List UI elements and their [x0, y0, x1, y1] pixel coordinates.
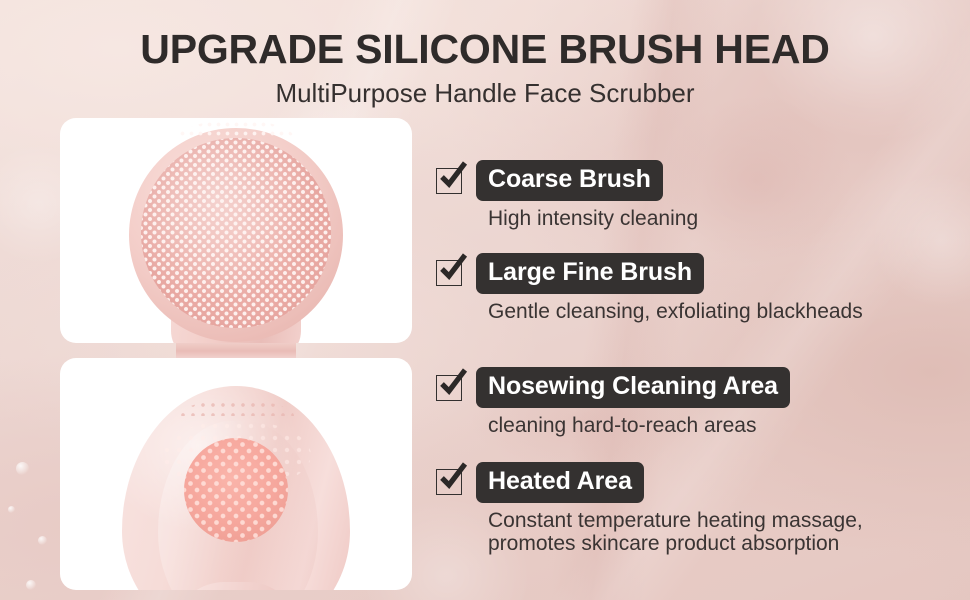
- product-photo-card-bristle-side: [60, 118, 412, 343]
- water-droplet-icon: [38, 536, 47, 545]
- water-droplet-icon: [26, 580, 36, 590]
- checkbox-checked-icon: [436, 469, 462, 495]
- feature-heading: Large Fine Brush: [436, 253, 956, 294]
- checkbox-checked-icon: [436, 260, 462, 286]
- heated-area-texture: [184, 438, 288, 542]
- checkbox-checked-icon: [436, 168, 462, 194]
- brush-handle-strip: [176, 343, 296, 359]
- feature-description: Gentle cleansing, exfoliating blackheads: [488, 300, 956, 324]
- feature-heading: Nosewing Cleaning Area: [436, 367, 956, 408]
- product-photo-card-back-side: [60, 358, 412, 590]
- brush-back-top-bristles: [178, 400, 294, 416]
- feature-label: Heated Area: [476, 462, 644, 503]
- page-title: UPGRADE SILICONE BRUSH HEAD: [0, 26, 970, 73]
- brush-rim-bristles: [178, 120, 294, 138]
- feature-item: Heated Area Constant temperature heating…: [436, 462, 956, 556]
- feature-item: Large Fine Brush Gentle cleansing, exfol…: [436, 253, 956, 324]
- feature-label: Coarse Brush: [476, 160, 663, 201]
- brush-back-body: [122, 386, 350, 590]
- feature-item: Nosewing Cleaning Area cleaning hard-to-…: [436, 367, 956, 438]
- brush-bristles-texture: [141, 138, 331, 328]
- brush-bristle-face: [141, 138, 331, 328]
- product-infographic: UPGRADE SILICONE BRUSH HEAD MultiPurpose…: [0, 0, 970, 600]
- water-droplet-icon: [8, 506, 15, 513]
- water-droplet-icon: [16, 462, 29, 475]
- feature-label: Large Fine Brush: [476, 253, 704, 294]
- feature-label: Nosewing Cleaning Area: [476, 367, 790, 408]
- feature-heading: Heated Area: [436, 462, 956, 503]
- feature-description: High intensity cleaning: [488, 207, 956, 231]
- feature-item: Coarse Brush High intensity cleaning: [436, 160, 956, 231]
- page-subtitle: MultiPurpose Handle Face Scrubber: [0, 78, 970, 109]
- feature-list: Coarse Brush High intensity cleaning Lar…: [436, 160, 956, 574]
- feature-description: cleaning hard-to-reach areas: [488, 414, 956, 438]
- checkbox-checked-icon: [436, 375, 462, 401]
- feature-heading: Coarse Brush: [436, 160, 956, 201]
- feature-description: Constant temperature heating massage, pr…: [488, 509, 956, 556]
- heated-area-patch: [184, 438, 288, 542]
